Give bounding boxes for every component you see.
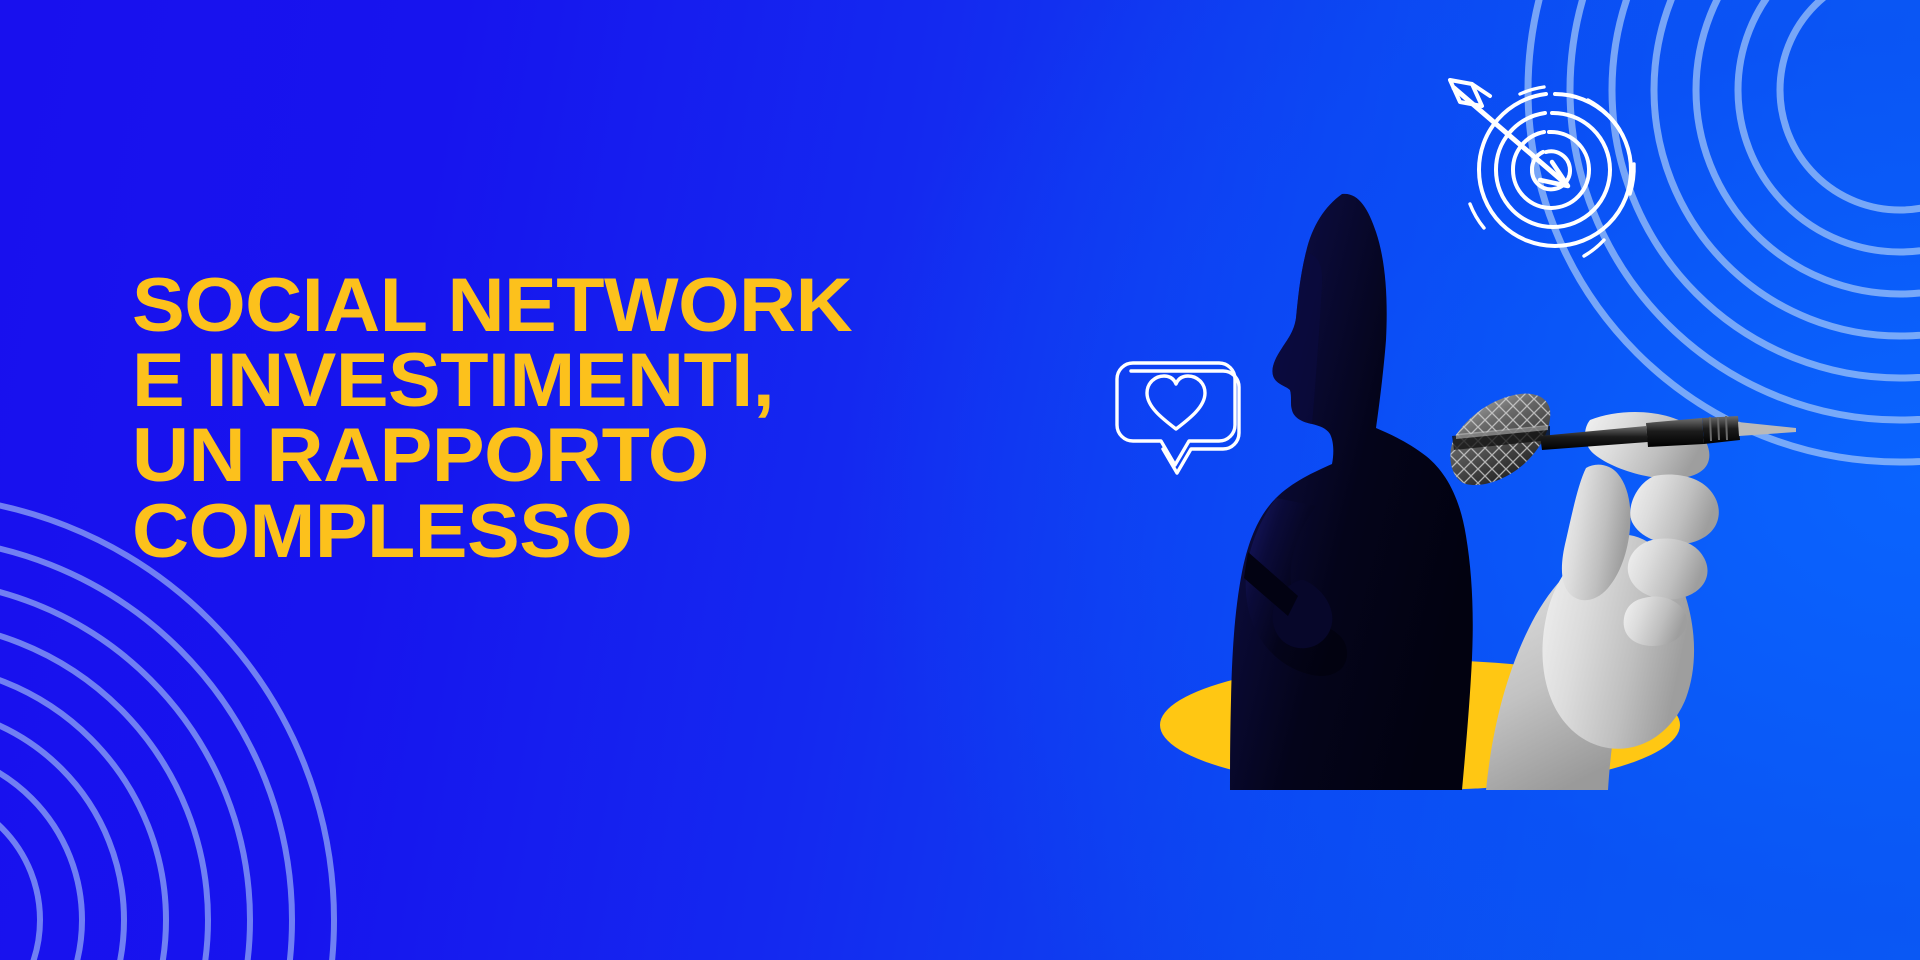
page-title: SOCIAL NETWORK E INVESTIMENTI, UN RAPPOR… xyxy=(132,268,1092,569)
heart-speech-bubble-icon xyxy=(1115,345,1250,475)
hand-holding-dart xyxy=(1440,300,1800,790)
headline-line-3: UN RAPPORTO xyxy=(132,418,1130,493)
target-dartboard-arrow-icon xyxy=(1448,78,1673,288)
headline-line-2: E INVESTIMENTI, xyxy=(132,343,1130,418)
hero-banner: SOCIAL NETWORK E INVESTIMENTI, UN RAPPOR… xyxy=(0,0,1920,960)
corner-arcs-bottom-left-decoration xyxy=(0,590,440,960)
headline-line-4: COMPLESSO xyxy=(132,494,1130,569)
headline-line-1: SOCIAL NETWORK xyxy=(132,268,1130,343)
